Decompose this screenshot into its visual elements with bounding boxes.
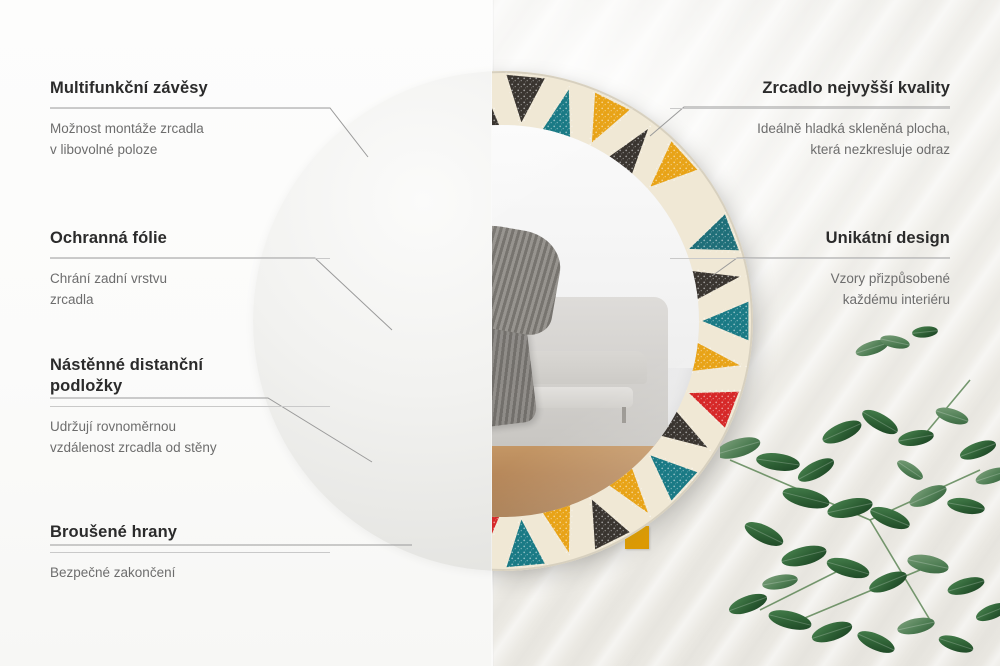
callout-divider bbox=[670, 258, 950, 259]
callout-body: Vzory přizpůsobené každému interiéru bbox=[670, 269, 950, 310]
reflected-floor bbox=[492, 439, 699, 517]
callout-title: Nástěnné distanční podložky bbox=[50, 355, 330, 397]
leaves-svg bbox=[720, 320, 1000, 666]
callout-unikatni-design: Unikátní design Vzory přizpůsobené každé… bbox=[670, 228, 950, 310]
callout-body: Udržují rovnoměrnou vzdálenost zrcadla o… bbox=[50, 417, 330, 458]
callout-zrcadlo-nejvyssi-kvality: Zrcadlo nejvyšší kvality Ideálně hladká … bbox=[670, 78, 950, 160]
callout-divider bbox=[50, 552, 330, 553]
callout-title: Broušené hrany bbox=[50, 522, 330, 543]
callout-body: Možnost montáže zrcadla v libovolné polo… bbox=[50, 119, 330, 160]
callout-divider bbox=[670, 108, 950, 109]
callout-multifunkcni-zavesy: Multifunkční závěsy Možnost montáže zrca… bbox=[50, 78, 330, 160]
callout-title: Ochranná fólie bbox=[50, 228, 330, 249]
sofa-leg bbox=[622, 407, 626, 423]
callout-title: Unikátní design bbox=[670, 228, 950, 249]
foliage-decoration bbox=[720, 320, 1000, 666]
callout-body: Chrání zadní vrstvu zrcadla bbox=[50, 269, 330, 310]
callout-body: Bezpečné zakončení bbox=[50, 563, 330, 584]
infographic-stage: Multifunkční závěsy Možnost montáže zrca… bbox=[0, 0, 1000, 666]
callout-divider bbox=[50, 258, 330, 259]
callout-title: Zrcadlo nejvyšší kvality bbox=[670, 78, 950, 99]
callout-body: Ideálně hladká skleněná plocha, která ne… bbox=[670, 119, 950, 160]
callout-nastenne-distancni-podlozky: Nástěnné distanční podložky Udržují rovn… bbox=[50, 355, 330, 458]
mirror-glass bbox=[492, 125, 699, 517]
callout-divider bbox=[50, 406, 330, 407]
callout-ochranna-folie: Ochranná fólie Chrání zadní vrstvu zrcad… bbox=[50, 228, 330, 310]
callout-brousene-hrany: Broušené hrany Bezpečné zakončení bbox=[50, 522, 330, 584]
callout-title: Multifunkční závěsy bbox=[50, 78, 330, 99]
callout-divider bbox=[50, 108, 330, 109]
